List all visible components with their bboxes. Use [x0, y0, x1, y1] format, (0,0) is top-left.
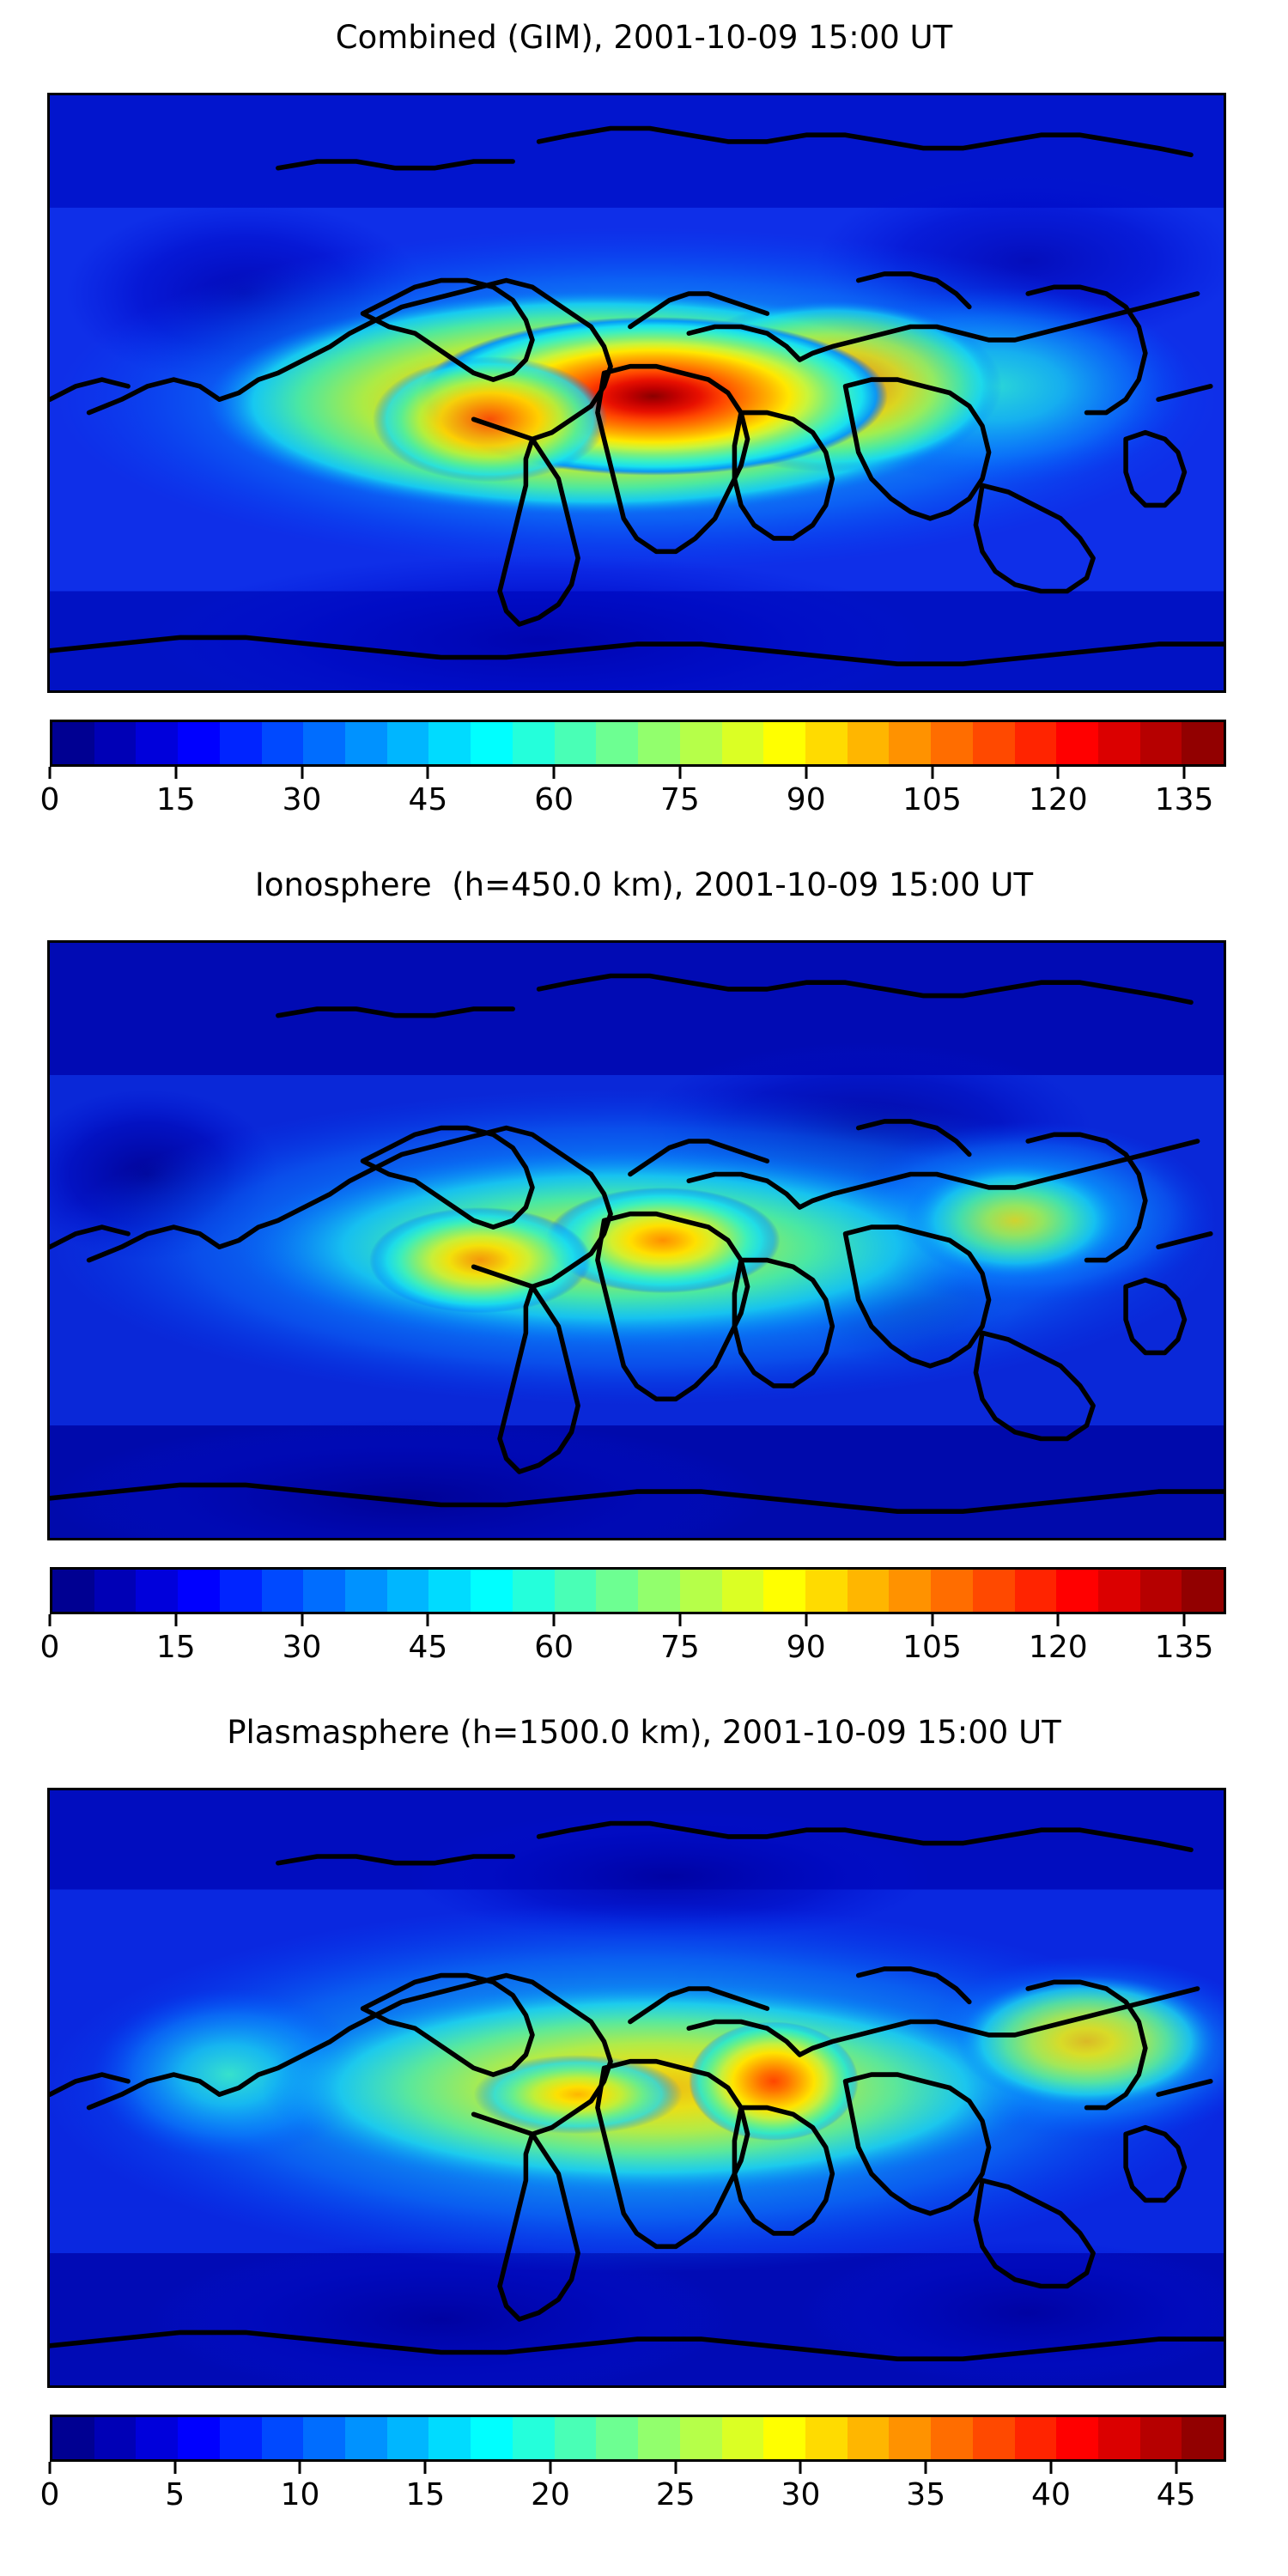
colorbar-ionosphere-ticks	[50, 1614, 1226, 1626]
colorbar-tick	[931, 767, 933, 779]
colorbar-band	[94, 1570, 137, 1612]
colorbar-tick	[1057, 767, 1060, 779]
colorbar-band	[52, 1570, 94, 1612]
colorbar-band	[1140, 1570, 1182, 1612]
colorbar-band	[763, 2417, 805, 2459]
colorbar-ionosphere-labels: 0153045607590105120135	[50, 1629, 1226, 1668]
colorbar-band	[220, 1570, 262, 1612]
colorbar-ionosphere-strip	[52, 1570, 1224, 1612]
colorbar-plasmasphere-ticks	[50, 2462, 1226, 2474]
colorbar-band	[220, 2417, 262, 2459]
colorbar-band	[848, 722, 890, 764]
colorbar-band	[555, 2417, 597, 2459]
colorbar-band	[471, 722, 513, 764]
colorbar-band	[889, 1570, 931, 1612]
colorbar-tick-label: 90	[787, 781, 826, 819]
colorbar-tick-label: 60	[534, 1629, 574, 1667]
colorbar-band	[1098, 2417, 1140, 2459]
map-ionosphere-canvas	[50, 943, 1224, 1538]
colorbar-band	[471, 2417, 513, 2459]
colorbar-band	[1015, 2417, 1057, 2459]
colorbar-tick	[427, 1614, 429, 1626]
colorbar-tick-label: 25	[656, 2476, 696, 2514]
colorbar-tick	[549, 2462, 551, 2474]
panel-ionosphere: Ionosphere (h=450.0 km), 2001-10-09 15:0…	[0, 848, 1288, 1706]
colorbar-band	[303, 2417, 345, 2459]
colorbar-tick-label: 60	[534, 781, 574, 819]
colorbar-band	[596, 722, 638, 764]
panel-plasmasphere: Plasmasphere (h=1500.0 km), 2001-10-09 1…	[0, 1695, 1288, 2576]
colorbar-tick	[301, 1614, 303, 1626]
colorbar-tick-label: 15	[405, 2476, 445, 2514]
colorbar-tick	[49, 767, 52, 779]
colorbar-band	[848, 2417, 890, 2459]
colorbar-tick-label: 135	[1155, 1629, 1214, 1667]
colorbar-band	[178, 1570, 220, 1612]
colorbar-band	[345, 2417, 387, 2459]
colorbar-band	[722, 722, 764, 764]
panel-combined: Combined (GIM), 2001-10-09 15:00 UT	[0, 0, 1288, 859]
colorbar-band	[722, 1570, 764, 1612]
colorbar-band	[931, 2417, 973, 2459]
colorbar-tick	[805, 1614, 807, 1626]
colorbar-tick	[1183, 767, 1186, 779]
colorbar-band	[387, 722, 429, 764]
colorbar-band	[262, 1570, 304, 1612]
panel-title-combined: Combined (GIM), 2001-10-09 15:00 UT	[0, 19, 1288, 56]
colorbar-band	[805, 1570, 848, 1612]
colorbar-tick-label: 45	[408, 1629, 447, 1667]
colorbar-band	[52, 2417, 94, 2459]
map-plasmasphere	[47, 1788, 1226, 2388]
colorbar-band	[638, 722, 680, 764]
colorbar-band	[680, 2417, 722, 2459]
colorbar-band	[136, 1570, 178, 1612]
colorbar-tick	[1049, 2462, 1052, 2474]
tec-map-figure: Combined (GIM), 2001-10-09 15:00 UT	[0, 0, 1288, 2576]
colorbar-tick	[1057, 1614, 1060, 1626]
map-combined	[47, 93, 1226, 693]
colorbar-band	[1098, 1570, 1140, 1612]
colorbar-tick-label: 30	[283, 1629, 322, 1667]
colorbar-band	[931, 1570, 973, 1612]
colorbar-band	[763, 1570, 805, 1612]
colorbar-band	[638, 2417, 680, 2459]
colorbar-tick-label: 75	[660, 781, 700, 819]
colorbar-tick-label: 45	[408, 781, 447, 819]
colorbar-band	[428, 722, 471, 764]
colorbar-band	[1056, 1570, 1098, 1612]
colorbar-tick-label: 15	[156, 781, 196, 819]
colorbar-tick-label: 20	[531, 2476, 570, 2514]
colorbar-band	[763, 722, 805, 764]
colorbar-tick	[173, 2462, 176, 2474]
colorbar-tick	[1183, 1614, 1186, 1626]
colorbar-band	[805, 722, 848, 764]
colorbar-tick-label: 40	[1031, 2476, 1071, 2514]
colorbar-combined-labels: 0153045607590105120135	[50, 781, 1226, 821]
map-plasmasphere-canvas	[50, 1790, 1224, 2385]
colorbar-tick	[174, 767, 177, 779]
colorbar-band	[1140, 722, 1182, 764]
colorbar-tick-label: 105	[902, 1629, 962, 1667]
colorbar-tick-label: 75	[660, 1629, 700, 1667]
colorbar-band	[94, 722, 137, 764]
colorbar-band	[345, 1570, 387, 1612]
colorbar-band	[513, 1570, 555, 1612]
map-combined-field	[50, 95, 1224, 690]
colorbar-tick	[925, 2462, 927, 2474]
colorbar-band	[178, 722, 220, 764]
colorbar-tick-label: 10	[281, 2476, 320, 2514]
colorbar-tick	[799, 2462, 802, 2474]
colorbar-band	[805, 2417, 848, 2459]
colorbar-tick	[427, 767, 429, 779]
colorbar-band	[220, 722, 262, 764]
colorbar-band	[1182, 2417, 1224, 2459]
colorbar-band	[513, 722, 555, 764]
colorbar-tick-label: 15	[156, 1629, 196, 1667]
colorbar-tick-label: 0	[40, 2476, 60, 2514]
colorbar-tick-label: 35	[906, 2476, 945, 2514]
colorbar-band	[471, 1570, 513, 1612]
colorbar-tick	[553, 1614, 556, 1626]
colorbar-band	[973, 2417, 1015, 2459]
colorbar-band	[1182, 722, 1224, 764]
colorbar-combined-strip	[52, 722, 1224, 764]
colorbar-tick-label: 45	[1157, 2476, 1196, 2514]
colorbar-tick	[805, 767, 807, 779]
colorbar-tick-label: 90	[787, 1629, 826, 1667]
colorbar-band	[428, 2417, 471, 2459]
colorbar-tick-label: 120	[1029, 1629, 1088, 1667]
colorbar-ionosphere	[50, 1567, 1226, 1614]
colorbar-band	[931, 722, 973, 764]
colorbar-band	[262, 722, 304, 764]
colorbar-tick	[301, 767, 303, 779]
colorbar-band	[428, 1570, 471, 1612]
colorbar-tick-label: 30	[283, 781, 322, 819]
colorbar-band	[638, 1570, 680, 1612]
colorbar-tick	[931, 1614, 933, 1626]
colorbar-band	[513, 2417, 555, 2459]
colorbar-tick-label: 105	[902, 781, 962, 819]
colorbar-band	[1015, 722, 1057, 764]
colorbar-tick-label: 120	[1029, 781, 1088, 819]
colorbar-tick	[553, 767, 556, 779]
colorbar-band	[555, 722, 597, 764]
colorbar-tick	[678, 1614, 681, 1626]
colorbar-band	[52, 722, 94, 764]
colorbar-tick-label: 0	[40, 1629, 60, 1667]
colorbar-band	[889, 2417, 931, 2459]
colorbar-tick-label: 5	[165, 2476, 185, 2514]
colorbar-band	[973, 1570, 1015, 1612]
colorbar-band	[1056, 722, 1098, 764]
colorbar-band	[1056, 2417, 1098, 2459]
colorbar-band	[1182, 1570, 1224, 1612]
colorbar-band	[136, 2417, 178, 2459]
colorbar-tick	[1175, 2462, 1177, 2474]
colorbar-tick	[424, 2462, 427, 2474]
colorbar-band	[1140, 2417, 1182, 2459]
colorbar-band	[848, 1570, 890, 1612]
colorbar-band	[345, 722, 387, 764]
panel-title-plasmasphere: Plasmasphere (h=1500.0 km), 2001-10-09 1…	[0, 1714, 1288, 1751]
colorbar-tick	[299, 2462, 301, 2474]
map-ionosphere-field	[50, 943, 1224, 1538]
colorbar-tick-label: 135	[1155, 781, 1214, 819]
colorbar-combined	[50, 720, 1226, 767]
colorbar-band	[596, 2417, 638, 2459]
colorbar-band	[555, 1570, 597, 1612]
colorbar-plasmasphere	[50, 2415, 1226, 2462]
colorbar-tick	[678, 767, 681, 779]
map-combined-canvas	[50, 95, 1224, 690]
colorbar-band	[889, 722, 931, 764]
colorbar-tick-label: 0	[40, 781, 60, 819]
colorbar-tick	[49, 1614, 52, 1626]
colorbar-band	[680, 722, 722, 764]
colorbar-band	[94, 2417, 137, 2459]
colorbar-band	[387, 1570, 429, 1612]
panel-title-ionosphere: Ionosphere (h=450.0 km), 2001-10-09 15:0…	[0, 866, 1288, 903]
colorbar-band	[303, 722, 345, 764]
colorbar-band	[973, 722, 1015, 764]
colorbar-band	[596, 1570, 638, 1612]
map-plasmasphere-field	[50, 1790, 1224, 2385]
colorbar-band	[387, 2417, 429, 2459]
colorbar-band	[262, 2417, 304, 2459]
map-ionosphere	[47, 940, 1226, 1540]
colorbar-band	[680, 1570, 722, 1612]
colorbar-plasmasphere-strip	[52, 2417, 1224, 2459]
colorbar-tick-label: 30	[781, 2476, 821, 2514]
colorbar-tick	[674, 2462, 677, 2474]
colorbar-band	[136, 722, 178, 764]
colorbar-tick	[49, 2462, 52, 2474]
colorbar-band	[303, 1570, 345, 1612]
colorbar-band	[1015, 1570, 1057, 1612]
colorbar-band	[1098, 722, 1140, 764]
colorbar-combined-ticks	[50, 767, 1226, 779]
colorbar-plasmasphere-labels: 051015202530354045	[50, 2476, 1226, 2516]
colorbar-tick	[174, 1614, 177, 1626]
colorbar-band	[178, 2417, 220, 2459]
colorbar-band	[722, 2417, 764, 2459]
